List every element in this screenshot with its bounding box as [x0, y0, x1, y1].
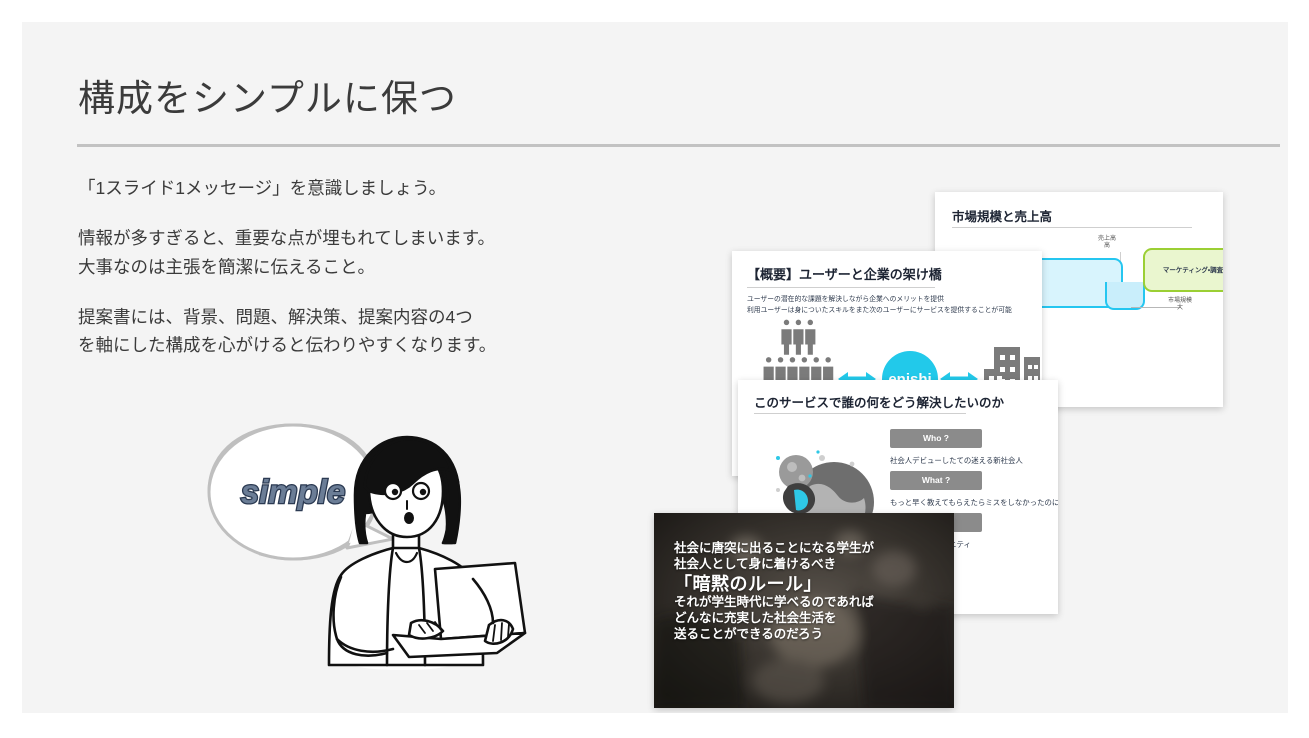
paragraph-line: 提案書には、背景、問題、解決策、提案内容の4つ — [78, 303, 548, 331]
market-x-axis-label: 市場規模 大 — [1168, 298, 1192, 312]
paragraph-1: 「1スライド1メッセージ」を意識しましょう。 — [78, 174, 548, 202]
photo-text-line: それが学生時代に学べるのであれば — [674, 595, 874, 611]
paragraph-line: を軸にした構成を心がけると伝わりやすくなります。 — [78, 331, 548, 359]
photo-text-line: 社会人として身に着けるべき — [674, 557, 874, 573]
market-box-green: マーケティング・調査 — [1143, 248, 1223, 292]
market-slide-title: 市場規模と売上高 — [952, 206, 1052, 225]
who-button[interactable]: Who ? — [890, 429, 982, 448]
woman-figure — [329, 437, 525, 670]
page-title: 構成をシンプルに保つ — [78, 68, 457, 122]
speech-bubble-text: simple — [241, 473, 346, 510]
paragraph-line: 大事なのは主張を簡潔に伝えること。 — [78, 253, 548, 281]
market-slide-divider — [952, 227, 1192, 228]
slide-card: 構成をシンプルに保つ 「1スライド1メッセージ」を意識しましょう。 情報が多すぎ… — [22, 22, 1288, 713]
overview-slide-divider — [747, 287, 935, 288]
paragraph-3: 提案書には、背景、問題、解決策、提案内容の4つ を軸にした構成を心がけると伝わり… — [78, 303, 548, 360]
title-divider — [77, 144, 1280, 147]
dark-photo-slide[interactable]: 社会に唐突に出ることになる学生が 社会人として身に着けるべき 「暗黙のルール」 … — [654, 513, 954, 708]
market-box-cyan-small — [1105, 282, 1145, 310]
market-y-axis-label: 売上高 高 — [1098, 236, 1116, 250]
body-copy: 「1スライド1メッセージ」を意識しましょう。 情報が多すぎると、重要な点が埋もれ… — [78, 174, 548, 360]
photo-text-line-emphasis: 「暗黙のルール」 — [674, 573, 874, 596]
paragraph-line: 「1スライド1メッセージ」を意識しましょう。 — [78, 174, 548, 202]
what-button[interactable]: What ? — [890, 471, 982, 490]
who-what-slide-title: このサービスで誰の何をどう解決したいのか — [754, 392, 1004, 411]
woman-with-laptop-illustration: simple — [197, 417, 597, 672]
what-answer: もっと早く教えてもらえたらミスをしなかったのに — [890, 497, 1058, 508]
paragraph-2: 情報が多すぎると、重要な点が埋もれてしまいます。 大事なのは主張を簡潔に伝えるこ… — [78, 224, 548, 281]
photo-overlay-text: 社会に唐突に出ることになる学生が 社会人として身に着けるべき 「暗黙のルール」 … — [674, 541, 874, 642]
overview-slide-title: 【概要】ユーザーと企業の架け橋 — [747, 264, 942, 283]
who-answer: 社会人デビューしたての迷える新社会人 — [890, 455, 1023, 466]
slide-thumbnails-stack: 市場規模と売上高 売上高 高 マーケティング・調査 市場規模 大 【概要】ユーザ… — [622, 162, 1288, 713]
who-what-slide-divider — [754, 413, 966, 414]
photo-text-line: 社会に唐突に出ることになる学生が — [674, 541, 874, 557]
paragraph-line: 情報が多すぎると、重要な点が埋もれてしまいます。 — [78, 224, 548, 252]
photo-text-line: どんなに充実した社会生活を — [674, 611, 874, 627]
photo-text-line: 送ることができるのだろう — [674, 627, 874, 643]
